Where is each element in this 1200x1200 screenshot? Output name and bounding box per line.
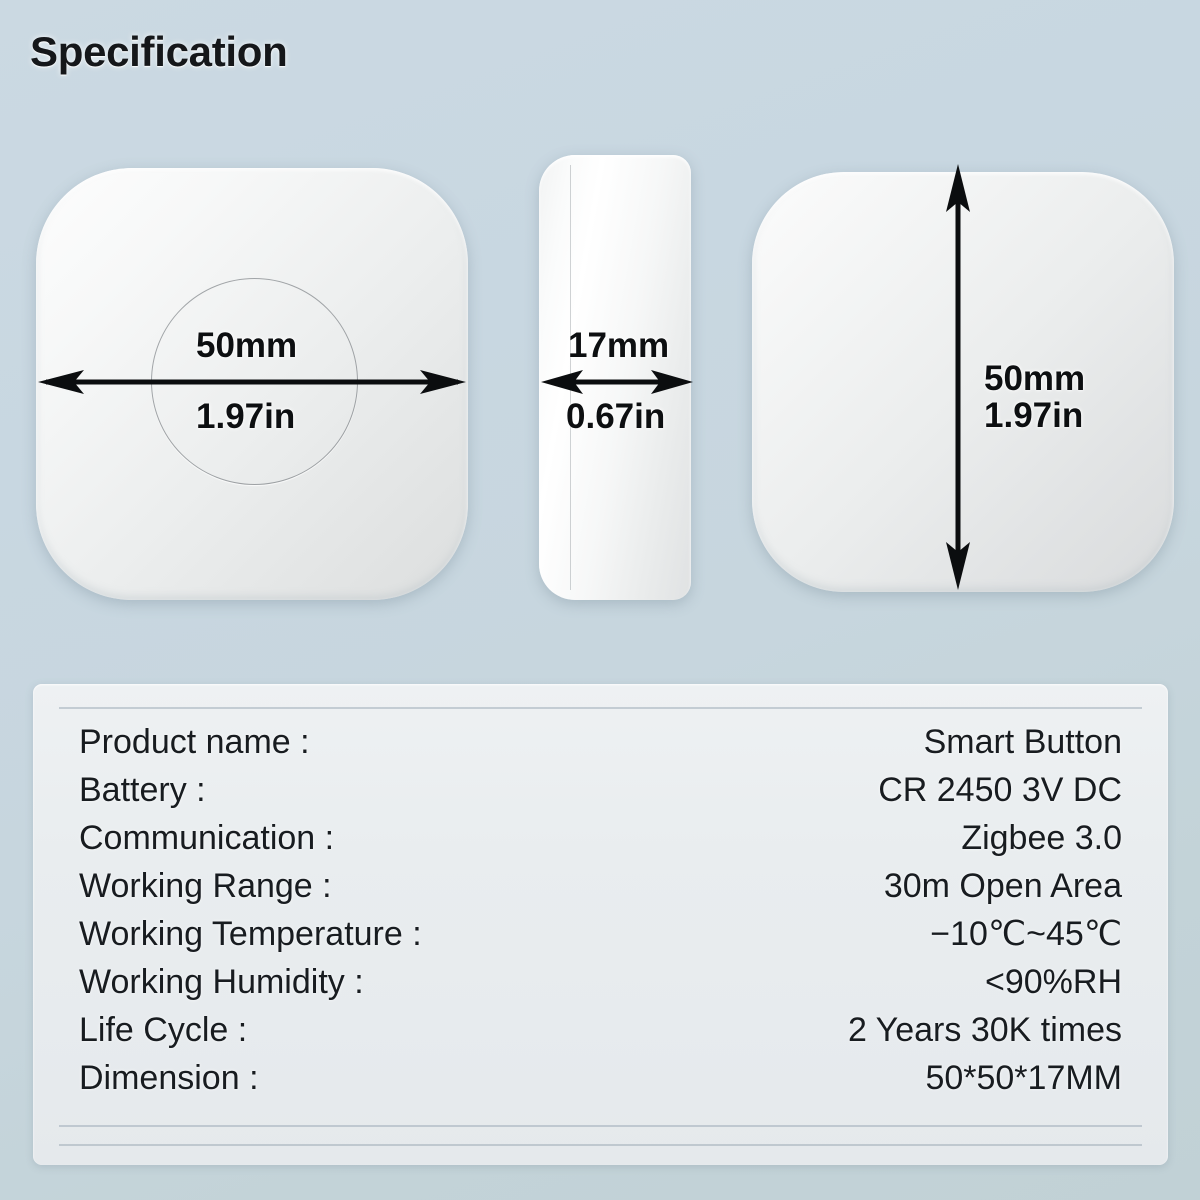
table-row: Communication : Zigbee 3.0 — [51, 816, 1150, 864]
spec-label-product-name: Product name : — [79, 720, 310, 764]
back-dimension-group: 50mm 1.97in — [984, 360, 1085, 434]
panel-divider-bottom-1 — [59, 1125, 1142, 1127]
specification-panel: Product name : Smart Button Battery : CR… — [33, 684, 1168, 1165]
spec-label-working-range: Working Range : — [79, 864, 332, 908]
table-row: Dimension : 50*50*17MM — [51, 1056, 1150, 1104]
spec-value-communication: Zigbee 3.0 — [961, 816, 1122, 860]
panel-divider-top — [59, 707, 1142, 709]
side-view-body — [539, 155, 691, 600]
spec-label-dimension: Dimension : — [79, 1056, 259, 1100]
side-dimension-in: 0.67in — [566, 398, 665, 435]
front-view-body — [36, 168, 468, 600]
table-row: Life Cycle : 2 Years 30K times — [51, 1008, 1150, 1056]
table-row: Product name : Smart Button — [51, 720, 1150, 768]
spec-value-dimension: 50*50*17MM — [925, 1056, 1122, 1100]
spec-label-working-humidity: Working Humidity : — [79, 960, 364, 1004]
spec-value-battery: CR 2450 3V DC — [878, 768, 1122, 812]
table-row: Battery : CR 2450 3V DC — [51, 768, 1150, 816]
panel-divider-bottom-2 — [59, 1144, 1142, 1146]
button-circle-outline — [151, 278, 358, 485]
spec-value-life-cycle: 2 Years 30K times — [848, 1008, 1122, 1052]
back-dimension-mm: 50mm — [984, 360, 1085, 397]
spec-label-communication: Communication : — [79, 816, 334, 860]
front-dimension-mm: 50mm — [196, 327, 297, 364]
back-view-body — [752, 172, 1174, 592]
spec-label-working-temperature: Working Temperature : — [79, 912, 422, 956]
side-dimension-mm: 17mm — [568, 327, 669, 364]
back-dimension-in: 1.97in — [984, 397, 1085, 434]
back-seam-line — [958, 176, 959, 588]
page-title: Specification — [30, 28, 288, 76]
table-row: Working Temperature : −10℃~45℃ — [51, 912, 1150, 960]
table-row: Working Humidity : <90%RH — [51, 960, 1150, 1008]
front-dimension-in: 1.97in — [196, 398, 295, 435]
side-seam-line — [570, 165, 571, 590]
specification-page: Specification 50mm 1.97in 17mm 0.67in 50… — [0, 0, 1200, 1200]
table-row: Working Range : 30m Open Area — [51, 864, 1150, 912]
spec-value-working-temperature: −10℃~45℃ — [930, 912, 1122, 956]
spec-value-working-humidity: <90%RH — [985, 960, 1122, 1004]
spec-label-battery: Battery : — [79, 768, 206, 812]
spec-value-working-range: 30m Open Area — [884, 864, 1122, 908]
spec-label-life-cycle: Life Cycle : — [79, 1008, 247, 1052]
spec-value-product-name: Smart Button — [924, 720, 1122, 764]
specification-table: Product name : Smart Button Battery : CR… — [51, 720, 1150, 1104]
